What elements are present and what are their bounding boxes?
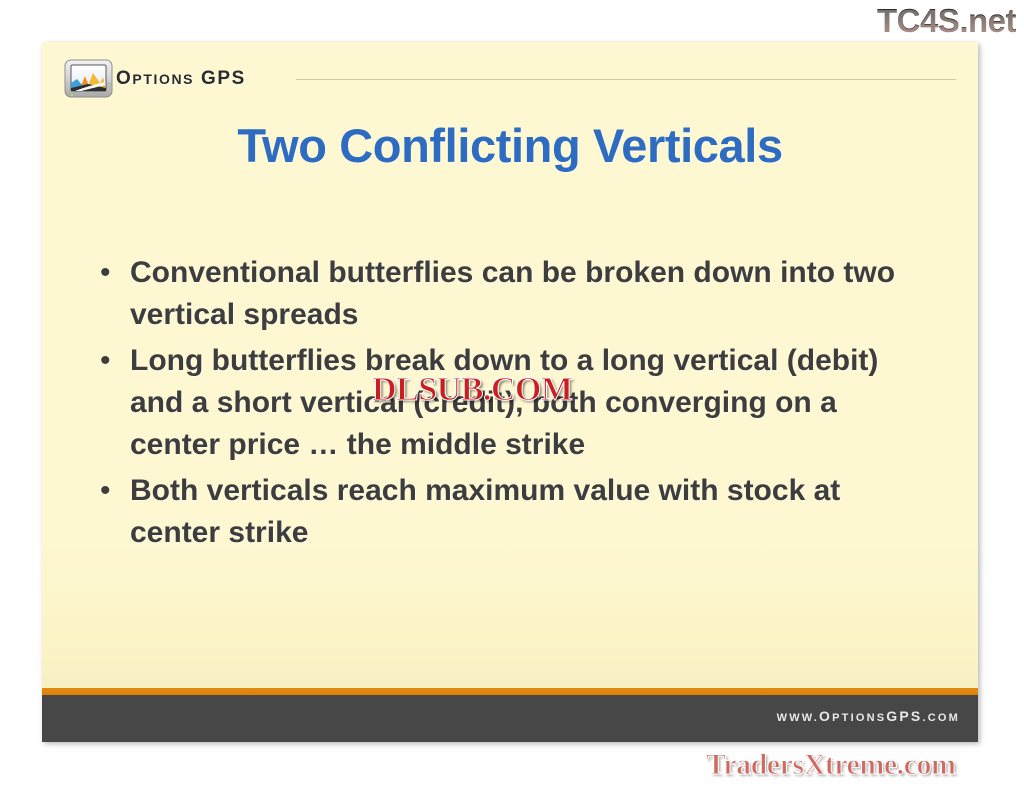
list-item: • Both verticals reach maximum value wit… [100,470,940,554]
watermark-tradersxtreme: TradersXtreme.com [706,748,955,782]
footer-accent-stripe [42,688,978,695]
bullet-marker-icon: • [100,470,130,512]
brand-wordmark-rest: PTIONS [132,71,194,87]
slide-footer: WWW.OPTIONSGPS.COM [42,695,978,742]
list-item: • Conventional butterflies can be broken… [100,252,940,336]
slide-header: OPTIONS GPS [42,52,978,106]
bullet-text: Conventional butterflies can be broken d… [130,252,920,336]
footer-url-prefix: WWW. [777,712,819,724]
site-brand-tc4s: TC4S.net [877,2,1016,40]
brand-wordmark-text: O [116,68,132,89]
bullet-marker-icon: • [100,340,130,382]
bullet-text: Both verticals reach maximum value with … [130,470,920,554]
gps-device-icon [62,58,116,100]
footer-url-gps: GPS [886,708,922,724]
watermark-dlsub: DLSUB.COM [372,371,572,409]
footer-website-url: WWW.OPTIONSGPS.COM [777,708,960,724]
page-title: Two Conflicting Verticals [42,118,978,173]
brand-wordmark: OPTIONS GPS [116,68,246,90]
brand-wordmark-gps: GPS [201,68,246,89]
footer-url-tld: COM [928,712,960,724]
bullet-marker-icon: • [100,252,130,294]
header-divider [296,79,956,80]
footer-url-rest: PTIONS [832,712,886,724]
footer-url-o: O [819,708,832,724]
